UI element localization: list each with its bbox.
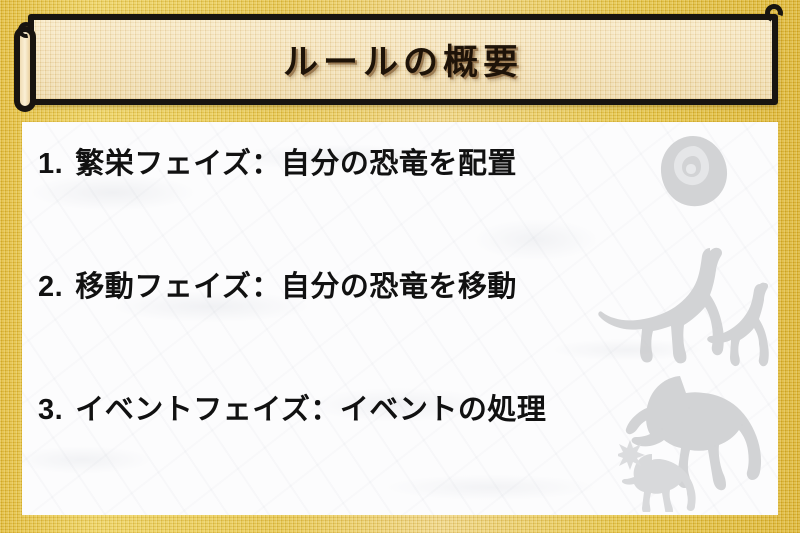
rule-number: 3. <box>38 394 63 427</box>
page-title: ルールの概要 <box>28 14 778 105</box>
rules-list: 1. 繁栄フェイズ：自分の恐竜を配置 2. 移動フェイズ：自分の恐竜を移動 3.… <box>38 140 678 509</box>
list-item: 2. 移動フェイズ：自分の恐竜を移動 <box>38 263 678 386</box>
list-item: 3. イベントフェイズ：イベントの処理 <box>38 386 678 509</box>
rule-text: 繁栄フェイズ：自分の恐竜を配置 <box>75 140 517 182</box>
title-banner: ルールの概要 <box>0 0 800 122</box>
content-panel: 1. 繁栄フェイズ：自分の恐竜を配置 2. 移動フェイズ：自分の恐竜を移動 3.… <box>22 122 778 515</box>
rule-text: 移動フェイズ：自分の恐竜を移動 <box>75 263 517 305</box>
rule-text: イベントフェイズ：イベントの処理 <box>75 386 546 428</box>
list-item: 1. 繁栄フェイズ：自分の恐竜を配置 <box>38 140 678 263</box>
scroll-roll-left-icon <box>14 26 36 112</box>
rule-number: 1. <box>38 148 63 181</box>
rule-number: 2. <box>38 271 63 304</box>
slide-root: ルールの概要 <box>0 0 800 533</box>
